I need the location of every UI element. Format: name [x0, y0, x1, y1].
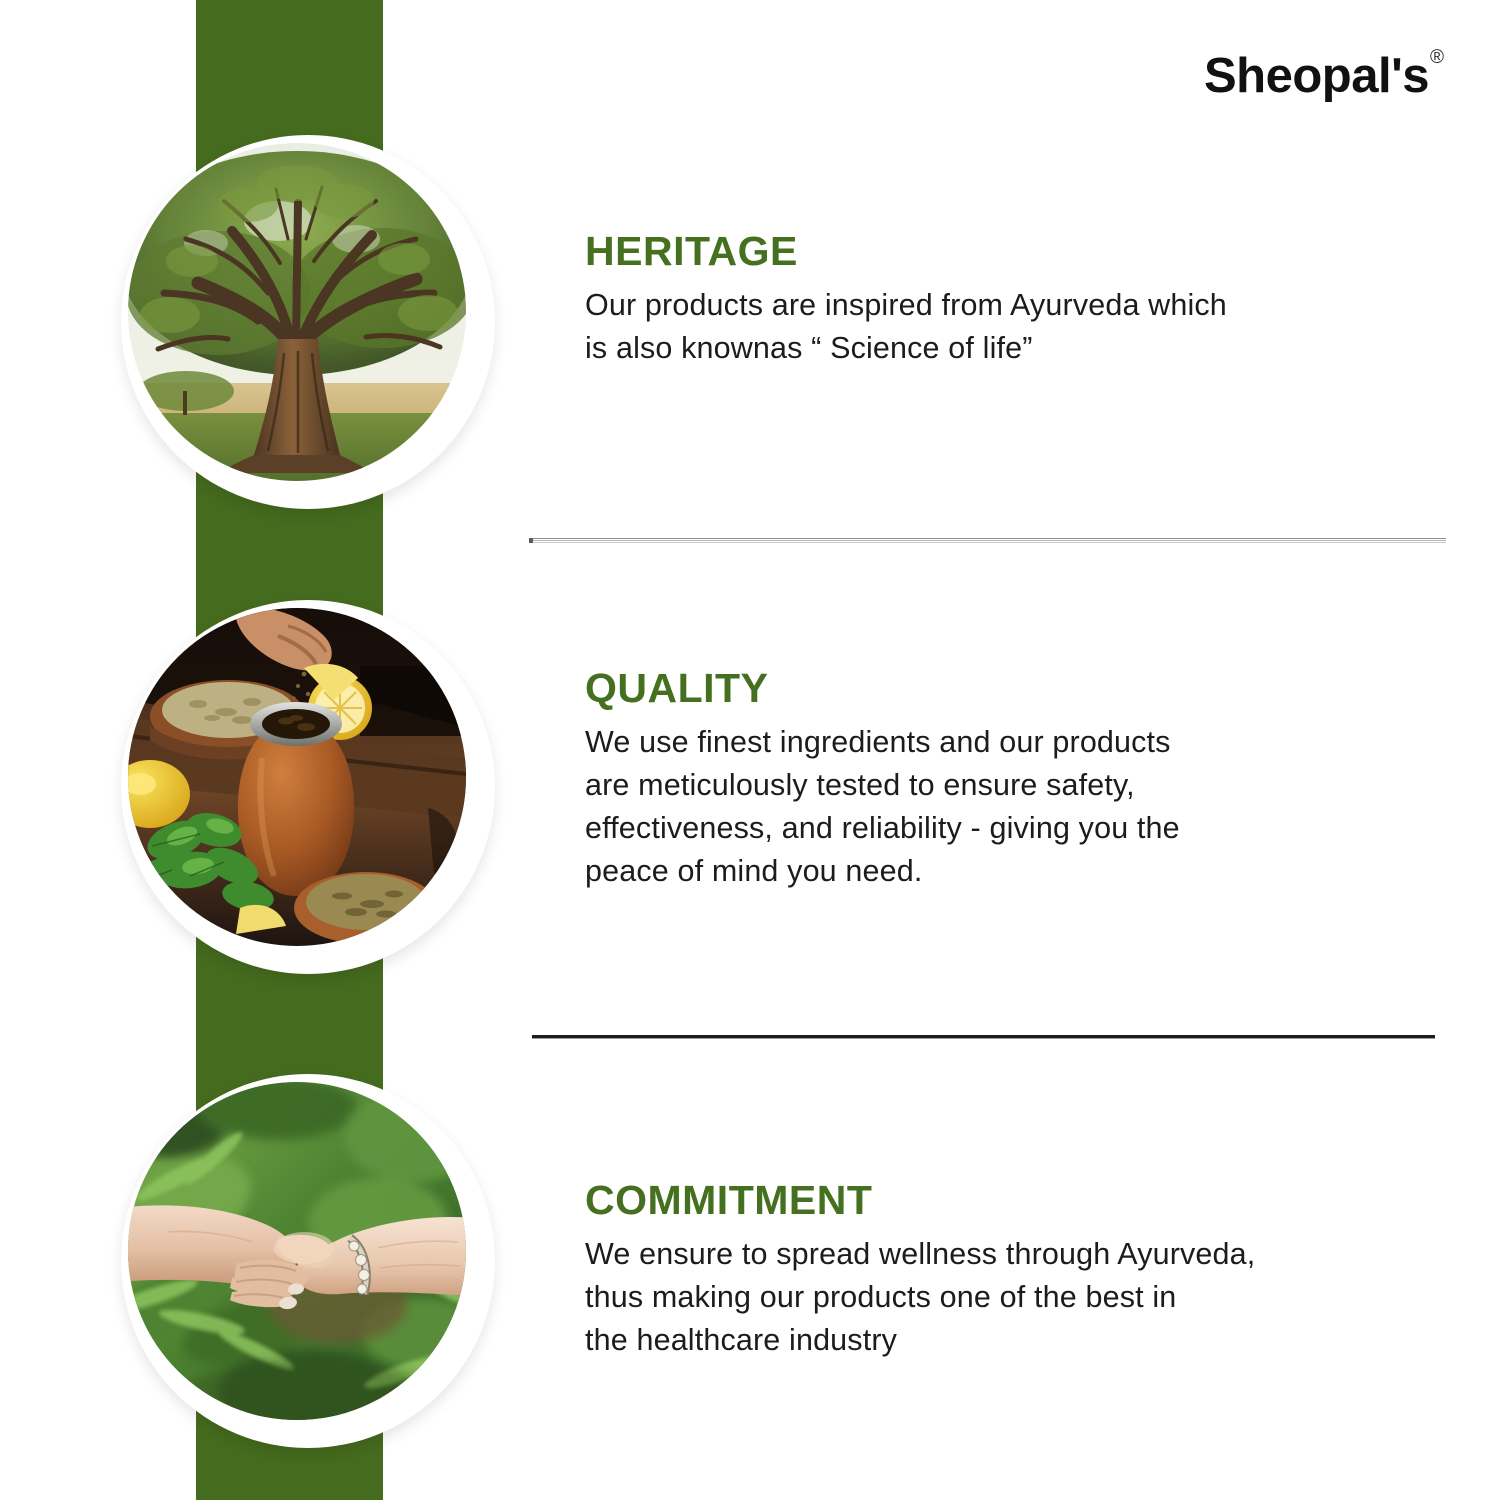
commitment-heading: COMMITMENT [585, 1177, 1465, 1224]
heritage-body: Our products are inspired from Ayurveda … [585, 284, 1465, 370]
commitment-body-line-2: thus making our products one of the best… [585, 1276, 1465, 1319]
heritage-body-line-1: Our products are inspired from Ayurveda … [585, 284, 1465, 327]
section-divider-1 [531, 538, 1446, 543]
registered-trademark-icon: ® [1430, 48, 1444, 67]
quality-body-line-4: peace of mind you need. [585, 850, 1465, 893]
commitment-body-line-3: the healthcare industry [585, 1319, 1465, 1362]
heritage-body-line-2: is also knownas “ Science of life” [585, 327, 1465, 370]
commitment-handshake-photo [128, 1082, 466, 1420]
section-quality: QUALITY We use finest ingredients and ou… [585, 665, 1465, 893]
heritage-tree-photo [128, 143, 466, 481]
quality-image-circle [110, 592, 500, 982]
commitment-image-circle [110, 1066, 500, 1456]
heritage-heading: HERITAGE [585, 228, 1465, 275]
brand-logo-text: Sheopal's [1204, 52, 1429, 101]
heritage-image-circle [110, 127, 500, 517]
quality-body: We use finest ingredients and our produc… [585, 721, 1465, 893]
quality-herbs-photo [128, 608, 466, 946]
commitment-body-line-1: We ensure to spread wellness through Ayu… [585, 1233, 1465, 1276]
quality-body-line-2: are meticulously tested to ensure safety… [585, 764, 1465, 807]
section-heritage: HERITAGE Our products are inspired from … [585, 228, 1465, 370]
quality-heading: QUALITY [585, 665, 1465, 712]
brand-logo: Sheopal's ® [1204, 52, 1444, 101]
quality-body-line-3: effectiveness, and reliability - giving … [585, 807, 1465, 850]
section-commitment: COMMITMENT We ensure to spread wellness … [585, 1177, 1465, 1362]
section-divider-2 [532, 1035, 1435, 1039]
quality-body-line-1: We use finest ingredients and our produc… [585, 721, 1465, 764]
commitment-body: We ensure to spread wellness through Ayu… [585, 1233, 1465, 1362]
